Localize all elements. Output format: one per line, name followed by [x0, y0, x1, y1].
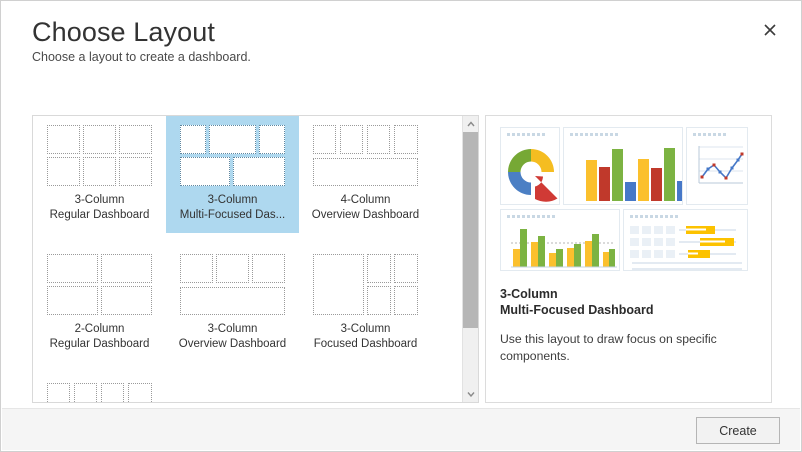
scroll-up-icon[interactable]: [463, 116, 478, 132]
layout-thumbnail: [313, 125, 419, 187]
preview-card-bars: [563, 127, 683, 205]
layout-preview-panel: 3-Column Multi-Focused Dashboard Use thi…: [485, 115, 772, 403]
layout-tile-partial[interactable]: [33, 374, 166, 403]
thumb-cell: [367, 286, 391, 315]
layout-thumbnail: [180, 125, 286, 187]
thumb-cell: [313, 158, 418, 186]
layout-thumbnail: [180, 254, 286, 316]
thumb-cell: [47, 254, 98, 283]
card-dots-icon: [630, 215, 678, 218]
preview-thumbnail: [500, 127, 758, 271]
close-glyph: [764, 24, 776, 36]
create-button[interactable]: Create: [696, 417, 780, 444]
layout-list-scrollbar[interactable]: [462, 116, 478, 402]
thumb-cell: [83, 157, 116, 186]
thumb-cell: [209, 125, 256, 154]
layout-tile-3col-overview[interactable]: 3-Column Overview Dashboard: [166, 245, 299, 362]
layout-tile-3col-regular[interactable]: 3-Column Regular Dashboard: [33, 116, 166, 233]
layout-thumbnail: [313, 254, 419, 316]
layout-tile-4col-overview[interactable]: 4-Column Overview Dashboard: [299, 116, 432, 233]
layout-tile-label: 4-Column Overview Dashboard: [302, 193, 430, 223]
layout-tile-label: 2-Column Regular Dashboard: [36, 322, 164, 352]
layout-tile-label: 3-Column Overview Dashboard: [169, 322, 297, 352]
thumb-cell: [47, 157, 80, 186]
scroll-down-icon[interactable]: [463, 386, 478, 402]
dialog-footer: Create: [2, 408, 800, 450]
card-dots-icon: [693, 133, 726, 136]
choose-layout-dialog: Choose Layout Choose a layout to create …: [0, 0, 802, 452]
gantt-chart: [624, 223, 748, 271]
thumb-cell: [47, 125, 80, 154]
thumb-cell: [101, 254, 152, 283]
layout-thumbnail: [47, 383, 153, 403]
line-chart: [687, 141, 748, 203]
preview-card-gantt: [623, 209, 748, 271]
thumb-cell: [101, 286, 152, 315]
page-title: Choose Layout: [32, 15, 215, 49]
thumb-cell: [233, 157, 285, 186]
thumb-cell: [216, 254, 249, 283]
layout-tile-2col-regular[interactable]: 2-Column Regular Dashboard: [33, 245, 166, 362]
layout-tile-3col-multifocused[interactable]: 3-Column Multi-Focused Das...: [166, 116, 299, 233]
thumb-cell: [47, 383, 70, 403]
scrollbar-thumb[interactable]: [463, 132, 478, 328]
thumb-cell: [313, 125, 336, 154]
card-dots-icon: [570, 133, 618, 136]
thumb-cell: [394, 286, 418, 315]
card-dots-icon: [507, 133, 545, 136]
thumb-cell: [180, 125, 206, 154]
layout-list-panel: 3-Column Regular Dashboard 3-Column Mult…: [32, 115, 479, 403]
card-dots-icon: [507, 215, 555, 218]
thumb-cell: [259, 125, 285, 154]
thumb-cell: [367, 125, 390, 154]
layout-tile-3col-focused[interactable]: 3-Column Focused Dashboard: [299, 245, 432, 362]
layout-tile-label: 3-Column Multi-Focused Das...: [169, 193, 297, 223]
layout-tile-label: 3-Column Focused Dashboard: [302, 322, 430, 352]
preview-card-donut: [500, 127, 560, 205]
thumb-cell: [252, 254, 285, 283]
thumb-cell: [394, 254, 418, 283]
chevron-up-glyph: [467, 121, 475, 127]
layout-thumbnail: [47, 125, 153, 187]
thumb-cell: [83, 125, 116, 154]
layout-tile-label: 3-Column Regular Dashboard: [36, 193, 164, 223]
preview-card-line: [686, 127, 748, 205]
chevron-down-glyph: [467, 391, 475, 397]
thumb-cell: [180, 254, 213, 283]
thumb-cell: [101, 383, 124, 403]
thumb-cell: [180, 287, 285, 315]
thumb-cell: [74, 383, 97, 403]
thumb-cell: [367, 254, 391, 283]
thumb-cell: [47, 286, 98, 315]
thumb-cell: [180, 157, 230, 186]
thumb-cell: [313, 254, 364, 315]
thumb-cell: [119, 125, 152, 154]
thumb-cell: [394, 125, 418, 154]
layout-thumbnail: [47, 254, 153, 316]
donut-chart: [501, 142, 560, 204]
thumb-cell: [119, 157, 152, 186]
paired-column-chart: [501, 223, 620, 271]
preview-description: Use this layout to draw focus on specifi…: [500, 331, 750, 365]
preview-card-paired-columns: [500, 209, 620, 271]
thumb-cell: [128, 383, 152, 403]
preview-title: 3-Column Multi-Focused Dashboard: [500, 286, 653, 318]
column-chart: [564, 143, 683, 205]
layout-list: 3-Column Regular Dashboard 3-Column Mult…: [33, 116, 462, 402]
close-icon[interactable]: [757, 17, 783, 43]
thumb-cell: [340, 125, 363, 154]
page-subtitle: Choose a layout to create a dashboard.: [32, 50, 251, 64]
